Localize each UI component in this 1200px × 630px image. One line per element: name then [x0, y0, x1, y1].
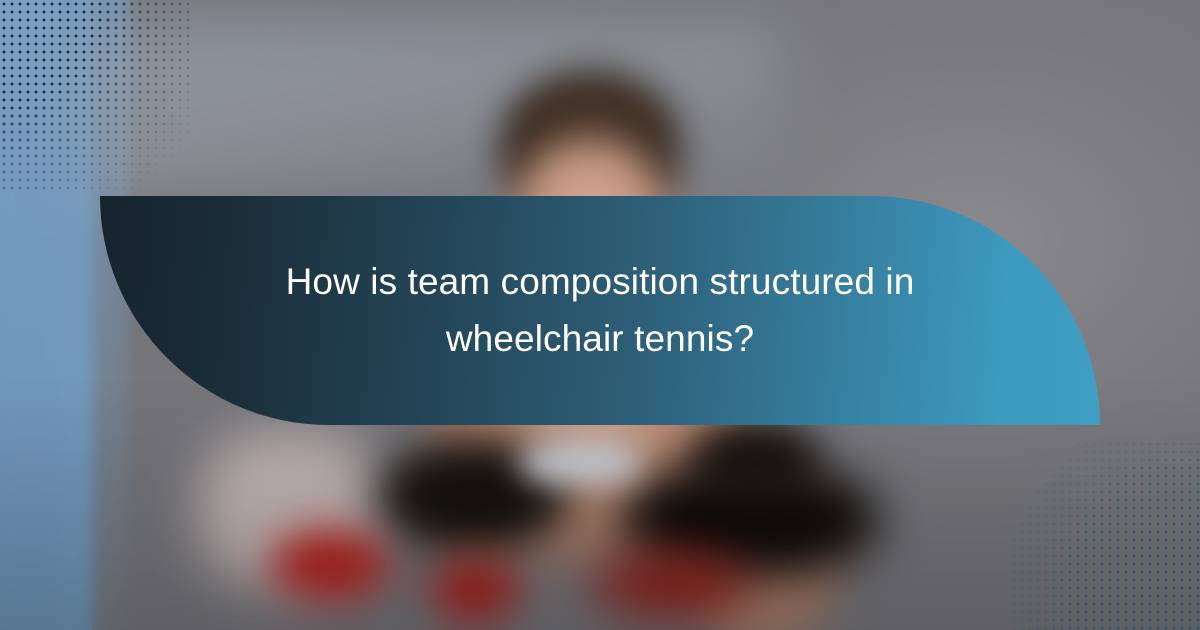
share-card: How is team composition structured in wh… — [0, 0, 1200, 630]
title-banner: How is team composition structured in wh… — [100, 196, 1100, 425]
page-title: How is team composition structured in wh… — [250, 254, 950, 366]
